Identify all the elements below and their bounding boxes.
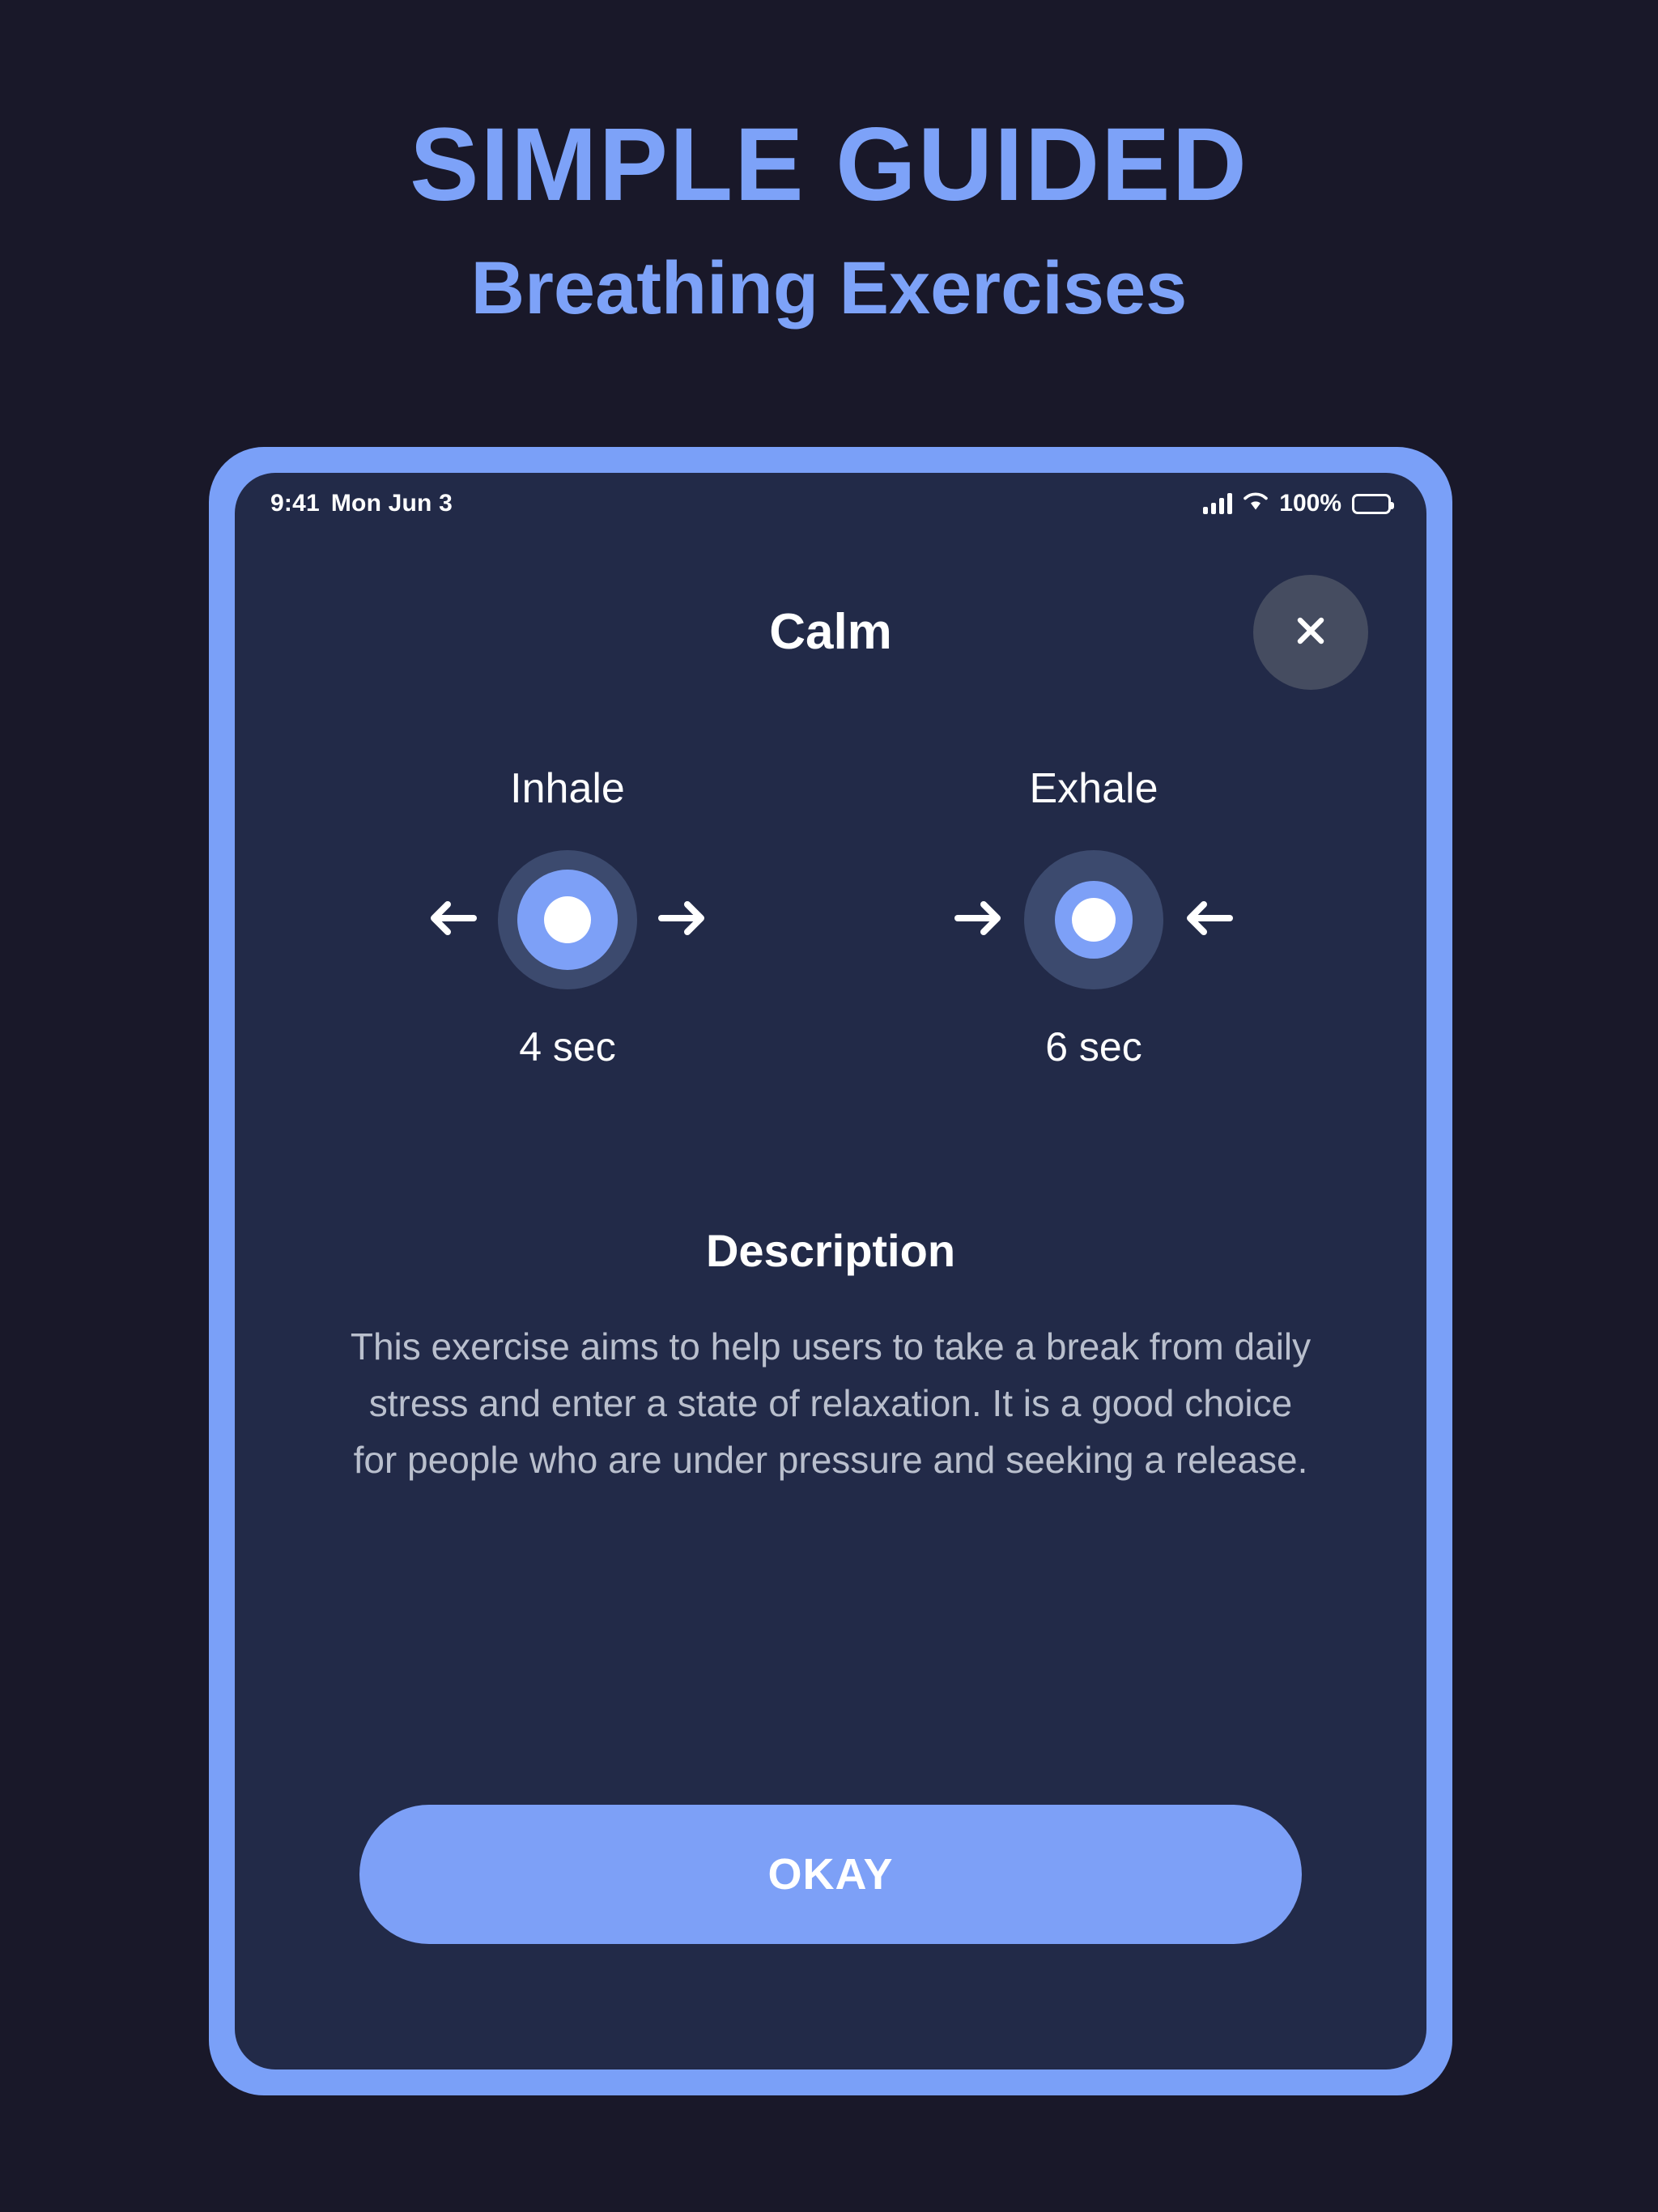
phase-exhale: Exhale [924, 764, 1264, 1070]
okay-button[interactable]: OKAY [359, 1805, 1302, 1944]
breathing-phases: Inhale [235, 764, 1426, 1070]
phase-exhale-label: Exhale [1030, 764, 1158, 813]
status-bar: 9:41 Mon Jun 3 100% [235, 473, 1426, 534]
inhale-ring-outer [498, 850, 637, 989]
status-bar-left: 9:41 Mon Jun 3 [270, 490, 453, 517]
dialog-title: Calm [235, 575, 1426, 690]
dialog-header: Calm [235, 575, 1426, 690]
promo-heading-line1: SIMPLE GUIDED [0, 113, 1658, 217]
phase-inhale-duration: 4 sec [519, 1023, 616, 1070]
description-section: Description This exercise aims to help u… [235, 1224, 1426, 1489]
description-body: This exercise aims to help users to take… [349, 1319, 1312, 1489]
phase-inhale-visual [425, 839, 710, 1001]
battery-percent: 100% [1279, 490, 1341, 517]
wifi-icon [1243, 491, 1269, 516]
exhale-ring-mid [1055, 881, 1133, 959]
close-button[interactable] [1253, 575, 1368, 690]
close-icon [1288, 608, 1333, 657]
device-frame: 9:41 Mon Jun 3 100% [209, 447, 1452, 2095]
phase-exhale-visual [951, 839, 1236, 1001]
status-time: 9:41 [270, 490, 320, 517]
description-heading: Description [340, 1224, 1321, 1277]
arrow-left-icon [425, 895, 480, 946]
exhale-ring-core [1072, 898, 1116, 942]
exhale-ring-outer [1024, 850, 1163, 989]
inhale-ring-core [544, 896, 591, 943]
status-bar-right: 100% [1203, 490, 1391, 517]
status-date: Mon Jun 3 [331, 490, 453, 517]
phase-exhale-duration: 6 sec [1045, 1023, 1142, 1070]
battery-full-icon [1352, 494, 1391, 514]
promo-heading: SIMPLE GUIDED Breathing Exercises [0, 113, 1658, 325]
phase-inhale-label: Inhale [510, 764, 625, 813]
arrow-right-icon [655, 895, 710, 946]
promo-heading-line2: Breathing Exercises [0, 251, 1658, 325]
phase-inhale: Inhale [397, 764, 738, 1070]
inhale-ring-mid [517, 870, 618, 970]
arrow-left-icon [1181, 895, 1236, 946]
signal-bars-icon [1203, 493, 1232, 514]
device-screen: 9:41 Mon Jun 3 100% [235, 473, 1426, 2069]
arrow-right-icon [951, 895, 1006, 946]
